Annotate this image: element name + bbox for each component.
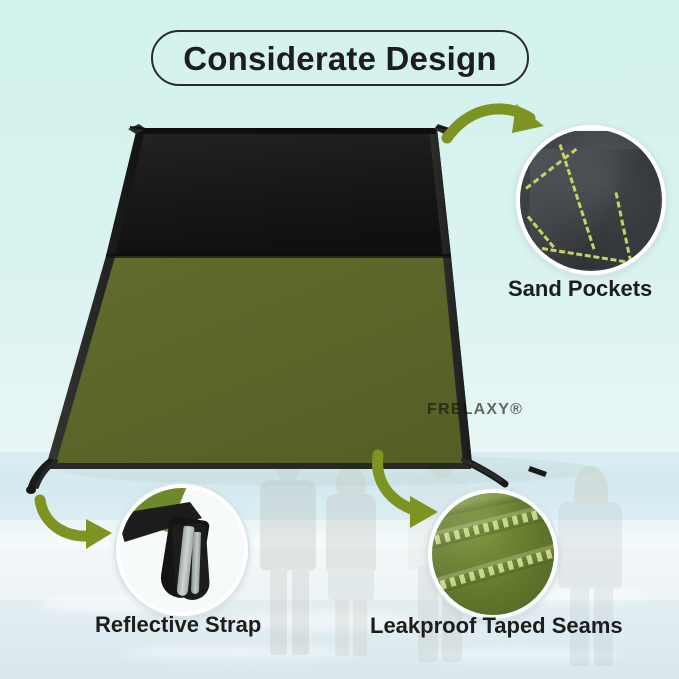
title-badge: Considerate Design bbox=[151, 30, 529, 86]
sand-pockets-inset bbox=[516, 125, 666, 275]
arrow-layer bbox=[0, 0, 679, 679]
taped-seams-inset bbox=[428, 489, 558, 619]
reflective-strap-inset bbox=[116, 484, 248, 616]
sand-pockets-label: Sand Pockets bbox=[508, 276, 652, 302]
arrow-to-reflective-strap bbox=[40, 500, 112, 549]
arrow-to-taped-seams bbox=[378, 455, 438, 528]
reflective-strap-label: Reflective Strap bbox=[95, 612, 261, 638]
page-title: Considerate Design bbox=[183, 42, 497, 75]
taped-seams-label: Leakproof Taped Seams bbox=[370, 613, 623, 639]
infographic-canvas: FRELAXY® Considerate Design bbox=[0, 0, 679, 679]
